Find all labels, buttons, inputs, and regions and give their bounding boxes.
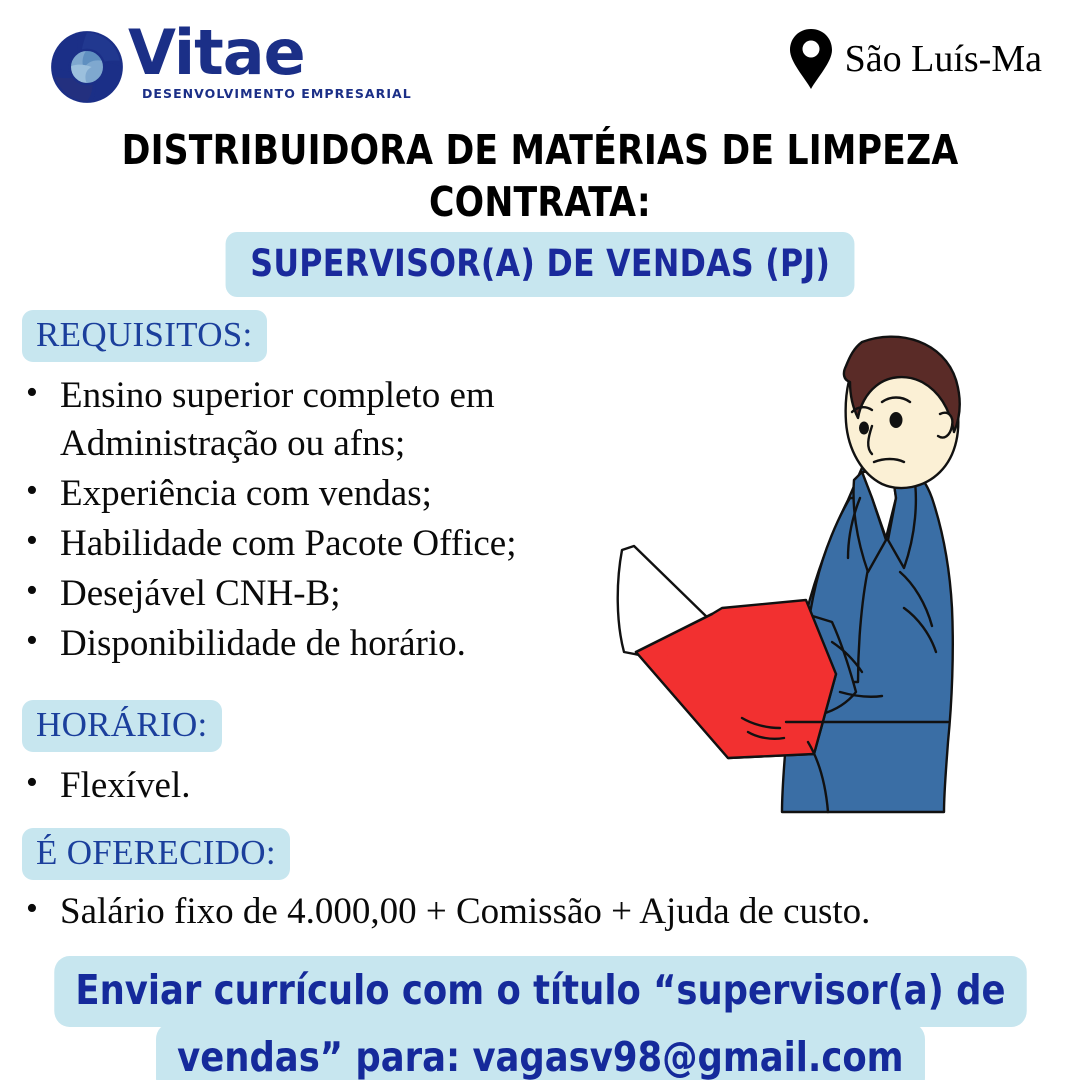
horario-list: Flexível. bbox=[18, 762, 518, 812]
list-item: Habilidade com Pacote Office; bbox=[18, 520, 638, 568]
list-item: Disponibilidade de horário. bbox=[18, 620, 638, 668]
headline-line-1: DISTRIBUIDORA DE MATÉRIAS DE LIMPEZA bbox=[32, 124, 1047, 176]
cta-line-2[interactable]: vendas” para: vagasv98@gmail.com bbox=[156, 1023, 925, 1080]
list-item: Experiência com vendas; bbox=[18, 470, 638, 518]
section-heading-label: É OFERECIDO: bbox=[22, 828, 290, 880]
requisitos-list: Ensino superior completo em Administraçã… bbox=[18, 372, 638, 671]
job-posting-poster: Vitae DESENVOLVIMENTO EMPRESARIAL São Lu… bbox=[0, 0, 1080, 1080]
cta-row-1: Enviar currículo com o título “superviso… bbox=[0, 956, 1080, 1027]
section-heading-oferecido: É OFERECIDO: bbox=[22, 828, 290, 880]
brand-logo: Vitae DESENVOLVIMENTO EMPRESARIAL bbox=[48, 24, 412, 116]
list-item: Salário fixo de 4.000,00 + Comissão + Aj… bbox=[18, 888, 998, 936]
oferecido-list: Salário fixo de 4.000,00 + Comissão + Aj… bbox=[18, 888, 998, 938]
location-label: São Luís-Ma bbox=[845, 37, 1042, 81]
page-title: DISTRIBUIDORA DE MATÉRIAS DE LIMPEZA CON… bbox=[32, 124, 1047, 229]
vitae-swirl-logo-icon bbox=[48, 28, 126, 106]
list-item: Flexível. bbox=[18, 762, 518, 810]
section-heading-horario: HORÁRIO: bbox=[22, 700, 222, 752]
brand-name: Vitae bbox=[128, 24, 412, 83]
list-item: Ensino superior completo em Administraçã… bbox=[18, 372, 638, 468]
map-pin-icon bbox=[789, 28, 833, 90]
cta-line-1: Enviar currículo com o título “superviso… bbox=[54, 956, 1026, 1027]
section-heading-label: REQUISITOS: bbox=[22, 310, 267, 362]
section-heading-label: HORÁRIO: bbox=[22, 700, 222, 752]
location-block: São Luís-Ma bbox=[789, 28, 1042, 90]
section-heading-requisitos: REQUISITOS: bbox=[22, 310, 267, 362]
job-title-row: SUPERVISOR(A) DE VENDAS (PJ) bbox=[0, 232, 1080, 297]
list-item: Desejável CNH-B; bbox=[18, 570, 638, 618]
headline-line-2: CONTRATA: bbox=[32, 176, 1047, 228]
brand-tagline: DESENVOLVIMENTO EMPRESARIAL bbox=[142, 86, 412, 101]
call-to-action-banner: Enviar currículo com o título “superviso… bbox=[0, 956, 1080, 1080]
cta-row-2: vendas” para: vagasv98@gmail.com bbox=[0, 1023, 1080, 1080]
job-title-badge: SUPERVISOR(A) DE VENDAS (PJ) bbox=[225, 232, 854, 297]
businessman-reading-red-folder-illustration bbox=[600, 322, 1060, 842]
